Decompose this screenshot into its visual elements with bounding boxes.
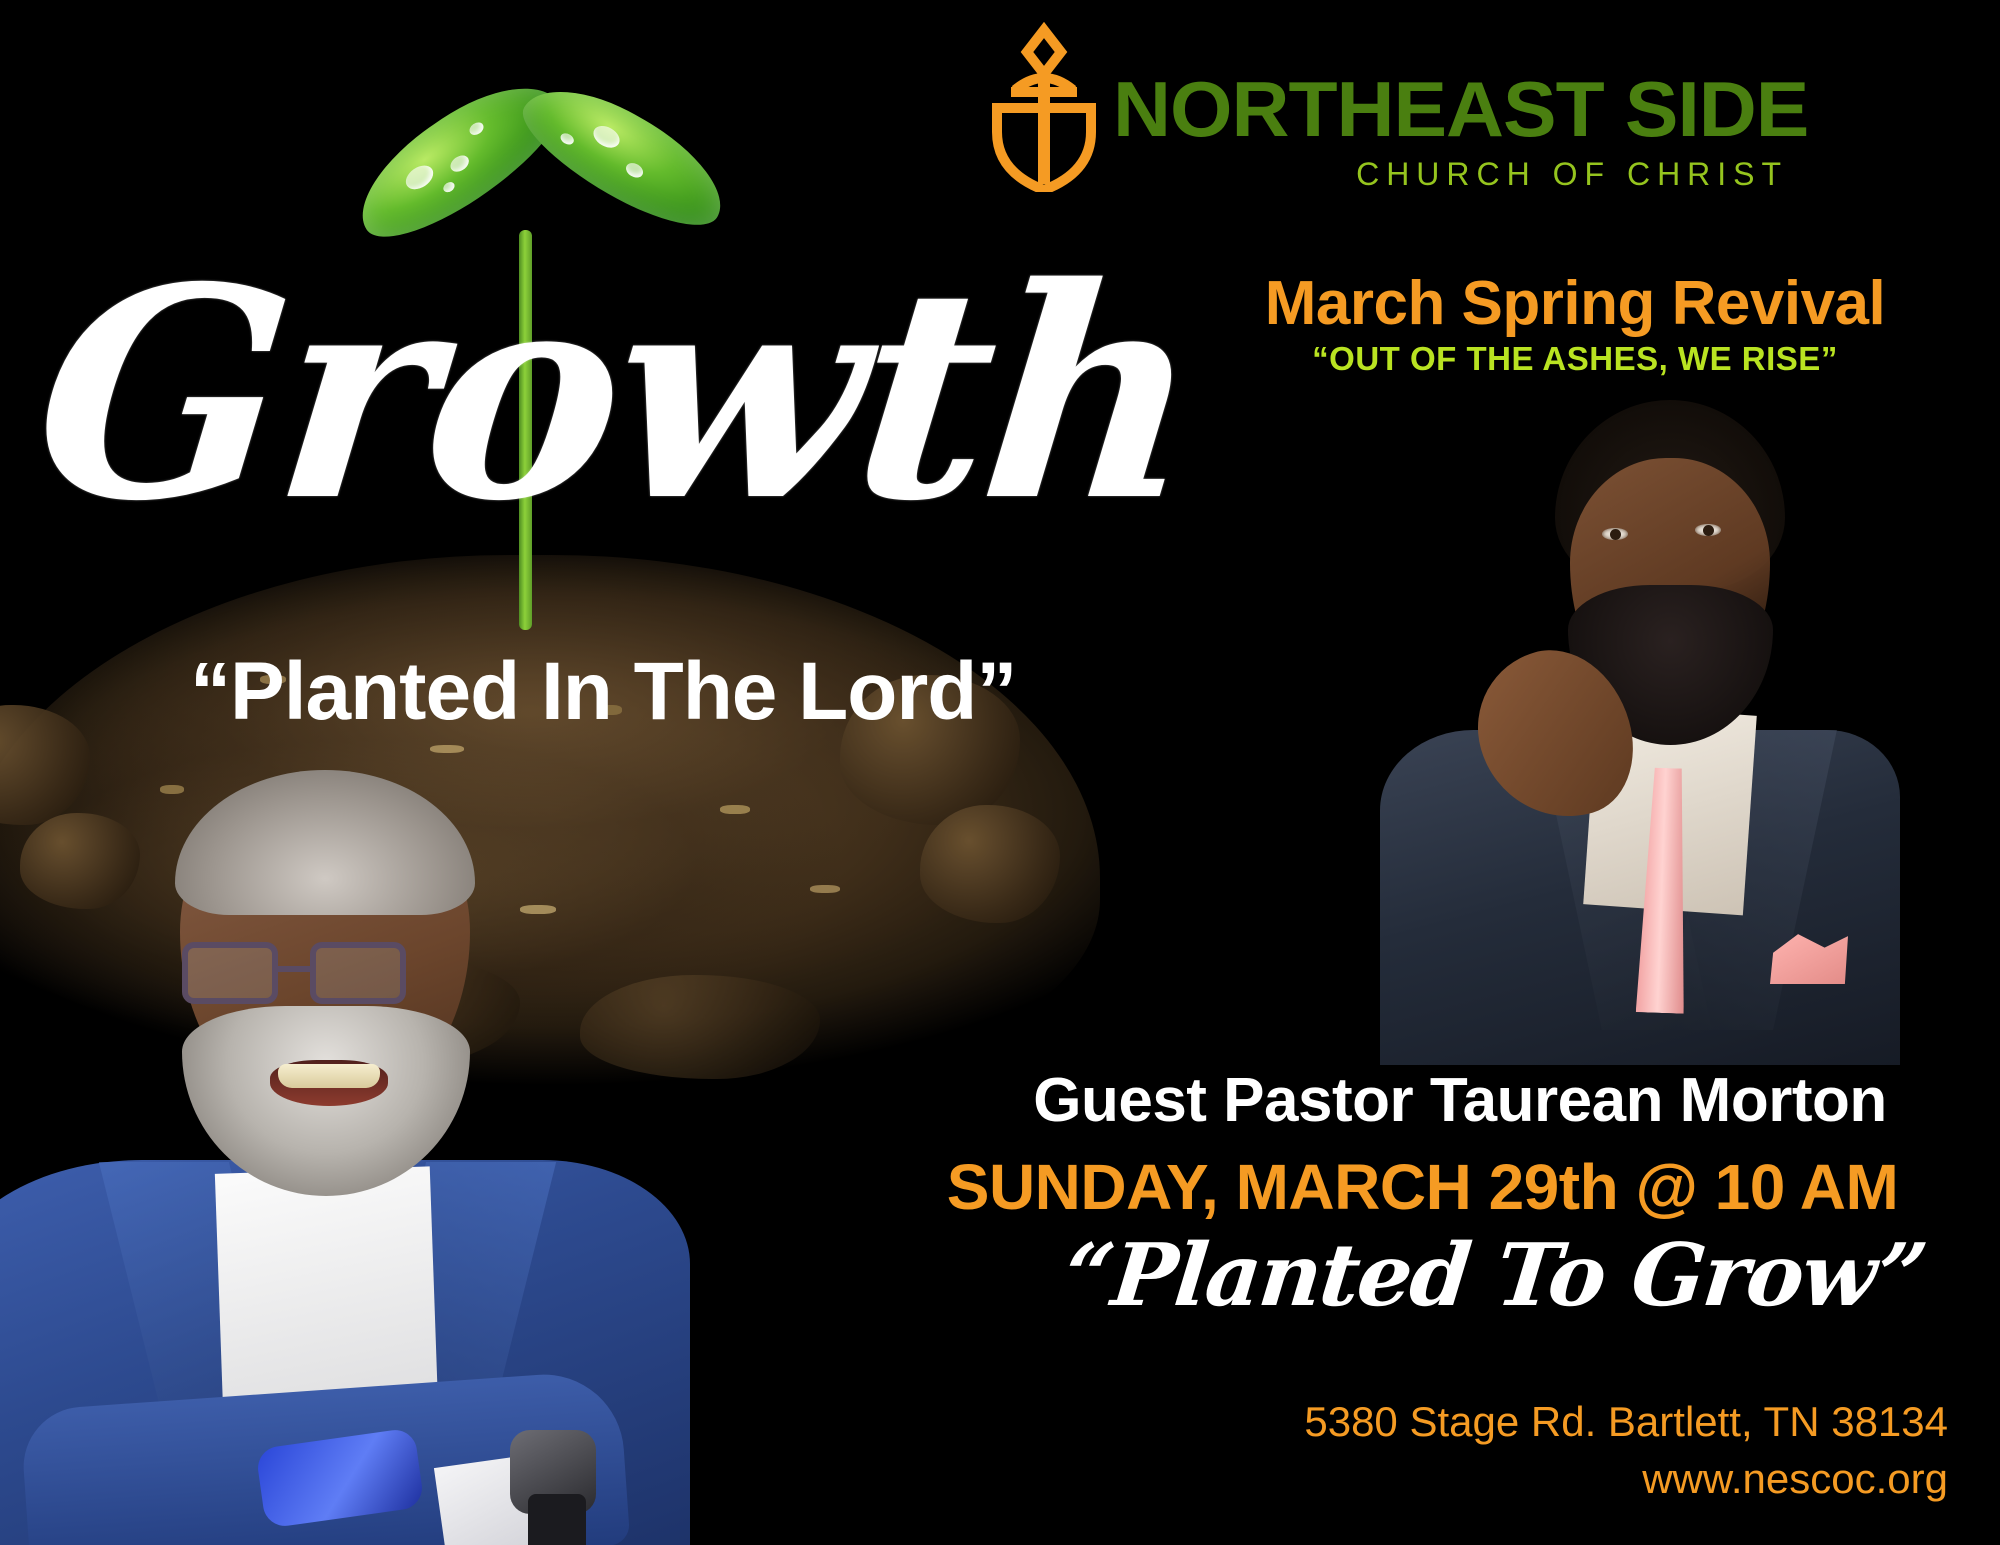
church-website[interactable]: www.nescoc.org bbox=[1100, 1455, 2000, 1503]
host-pastor-portrait bbox=[0, 770, 690, 1545]
brand-subtitle: CHURCH OF CHRIST bbox=[1113, 156, 1788, 193]
shield-sword-icon bbox=[985, 22, 1103, 192]
guest-speaker-name: Guest Pastor Taurean Morton bbox=[940, 1065, 1980, 1136]
revival-flyer: NORTHEAST SIDE CHURCH OF CHRIST March Sp… bbox=[0, 0, 2000, 1545]
church-address: 5380 Stage Rd. Bartlett, TN 38134 bbox=[1100, 1398, 2000, 1446]
guest-pastor-portrait bbox=[1340, 400, 1960, 1060]
revival-series-tagline: “OUT OF THE ASHES, WE RISE” bbox=[1160, 340, 1990, 378]
sermon-title: “Planted To Grow” bbox=[1045, 1225, 1946, 1326]
event-datetime: SUNDAY, MARCH 29th @ 10 AM bbox=[860, 1150, 1985, 1224]
brand-name: NORTHEAST SIDE bbox=[1113, 74, 1808, 146]
brand-lockup: NORTHEAST SIDE CHURCH OF CHRIST bbox=[985, 22, 1985, 212]
revival-series-title: March Spring Revival bbox=[1160, 268, 1990, 339]
page-title: Growth bbox=[25, 250, 1208, 540]
headline-subtitle: “Planted In The Lord” bbox=[190, 645, 1016, 739]
